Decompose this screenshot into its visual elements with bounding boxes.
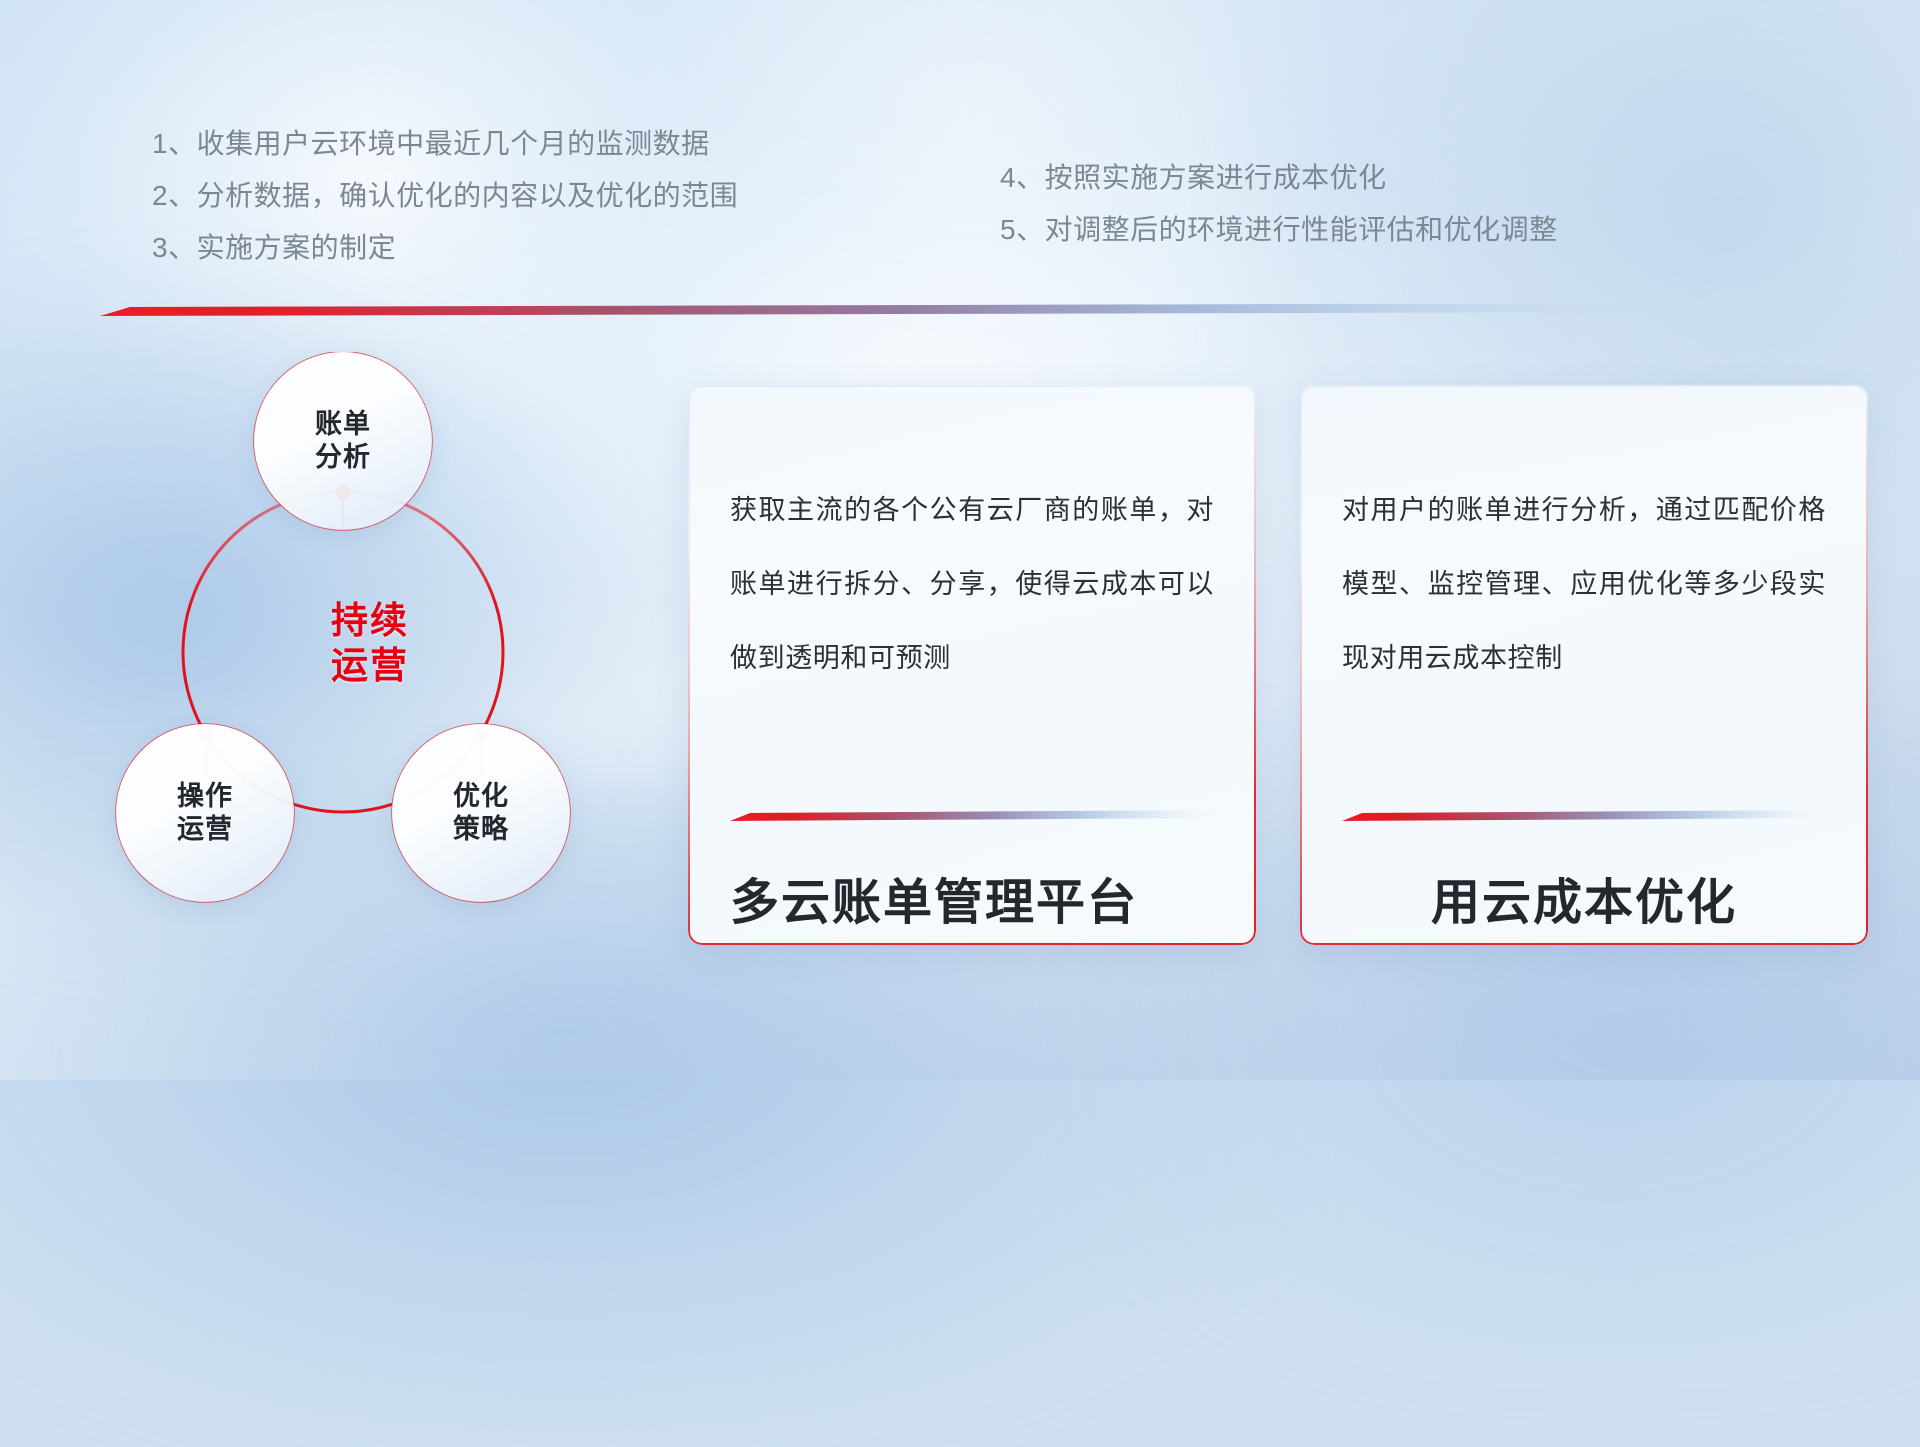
step-item-5: 5、对调整后的环境进行性能评估和优化调整 (1000, 204, 1558, 256)
cycle-node-bill-analysis[interactable]: 账单 分析 (254, 352, 432, 530)
feature-card-accent-line-1 (730, 808, 1214, 819)
cycle-node-optimization-strategy-line2: 策略 (453, 813, 509, 846)
cycle-node-bill-analysis-line1: 账单 (315, 408, 371, 441)
step-item-1: 1、收集用户云环境中最近几个月的监测数据 (152, 118, 738, 170)
feature-card-title-1: 多云账单管理平台 (730, 879, 1214, 928)
cycle-center-label-line1: 持续 (100, 598, 640, 643)
cycle-node-bill-analysis-line2: 分析 (315, 441, 371, 474)
cycle-node-bill-analysis-label: 账单 分析 (315, 408, 371, 475)
cycle-center-label: 持续 运营 (100, 598, 640, 688)
step-item-3: 3、实施方案的制定 (152, 222, 738, 274)
cycle-node-optimization-strategy[interactable]: 优化 策略 (392, 724, 570, 902)
feature-card-description-2: 对用户的账单进行分析，通过匹配价格模型、监控管理、应用优化等多少段实现对用云成本… (1342, 473, 1826, 695)
feature-card-description-1: 获取主流的各个公有云厂商的账单，对账单进行拆分、分享，使得云成本可以做到透明和可… (730, 473, 1214, 695)
feature-card-title-2: 用云成本优化 (1342, 879, 1826, 928)
feature-card-accent-line-2 (1342, 808, 1826, 819)
cycle-diagram: 账单 分析 操作 运营 优化 策略 持续 运营 (100, 352, 640, 952)
feature-card-cost-optimization[interactable]: 对用户的账单进行分析，通过匹配价格模型、监控管理、应用优化等多少段实现对用云成本… (1300, 385, 1868, 945)
feature-card-content-2: 对用户的账单进行分析，通过匹配价格模型、监控管理、应用优化等多少段实现对用云成本… (1300, 385, 1868, 945)
cycle-node-operations[interactable]: 操作 运营 (116, 724, 294, 902)
section-divider-shape (100, 303, 1712, 316)
steps-right-column: 4、按照实施方案进行成本优化 5、对调整后的环境进行性能评估和优化调整 (1000, 152, 1558, 256)
cycle-node-operations-line1: 操作 (177, 780, 233, 813)
feature-card-multicloud-billing[interactable]: 获取主流的各个公有云厂商的账单，对账单进行拆分、分享，使得云成本可以做到透明和可… (688, 385, 1256, 945)
cycle-center-label-line2: 运营 (100, 643, 640, 688)
step-item-2: 2、分析数据，确认优化的内容以及优化的范围 (152, 170, 738, 222)
feature-card-accent-shape-2 (1342, 810, 1826, 821)
feature-card-accent-shape-1 (730, 810, 1214, 821)
cycle-node-optimization-strategy-label: 优化 策略 (453, 780, 509, 847)
cycle-node-operations-line2: 运营 (177, 813, 233, 846)
feature-card-content-1: 获取主流的各个公有云厂商的账单，对账单进行拆分、分享，使得云成本可以做到透明和可… (688, 385, 1256, 945)
steps-left-column: 1、收集用户云环境中最近几个月的监测数据 2、分析数据，确认优化的内容以及优化的… (152, 118, 738, 274)
cycle-node-operations-label: 操作 运营 (177, 780, 233, 847)
step-item-4: 4、按照实施方案进行成本优化 (1000, 152, 1558, 204)
cycle-node-optimization-strategy-line1: 优化 (453, 780, 509, 813)
section-divider (100, 303, 1712, 316)
